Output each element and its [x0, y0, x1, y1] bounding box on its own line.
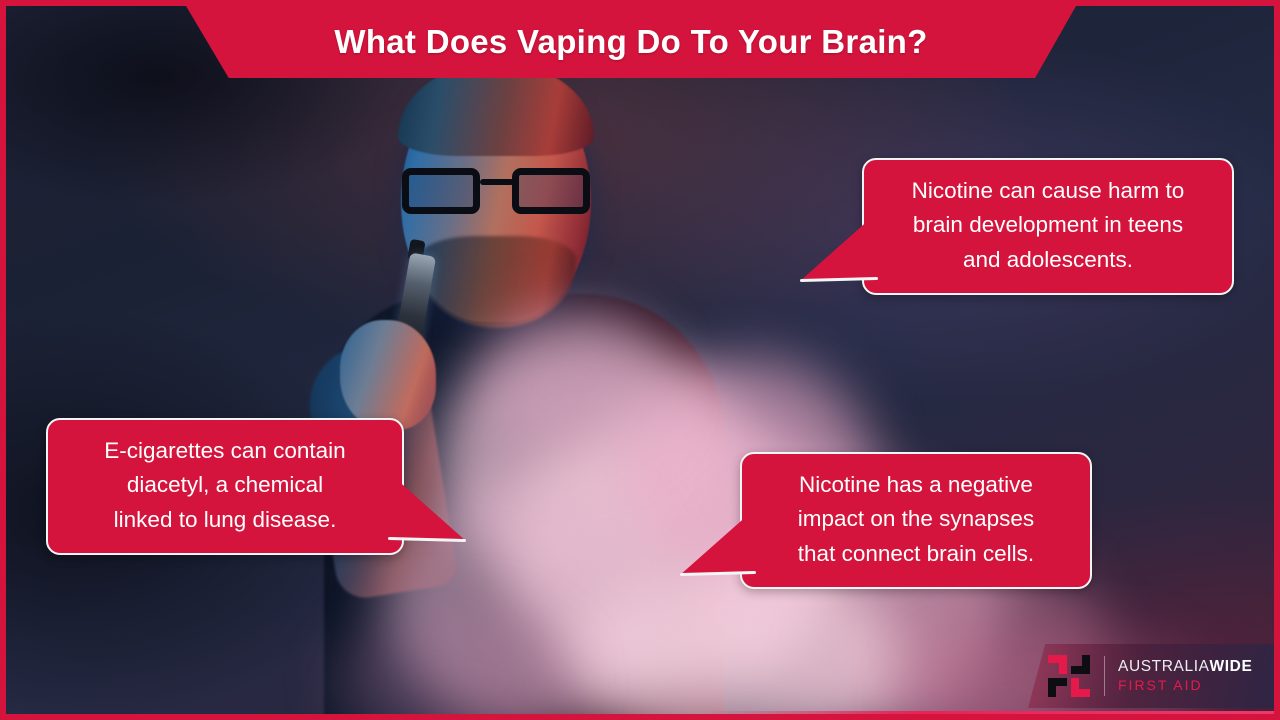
bubble-line-2: brain development in teens — [886, 208, 1210, 242]
logo-brand-part1: AUSTRALIA — [1118, 658, 1210, 675]
page-title: What Does Vaping Do To Your Brain? — [334, 23, 927, 61]
pinwheel-cross-icon — [1048, 655, 1090, 697]
vaping-person-illustration — [306, 64, 736, 714]
speech-bubble-diacetyl: E-cigarettes can contain diacetyl, a che… — [46, 418, 404, 555]
eyeglasses-icon — [402, 168, 590, 216]
background-photo — [6, 6, 1274, 714]
logo-tagline: FIRST AID — [1118, 678, 1252, 693]
logo-divider — [1104, 656, 1105, 696]
speech-bubble-nicotine-brain: Nicotine can cause harm to brain develop… — [862, 158, 1234, 295]
brand-logo[interactable]: AUSTRALIAWIDE FIRST AID — [1028, 644, 1274, 708]
glasses-left-lens — [402, 168, 480, 214]
logo-wordmark: AUSTRALIAWIDE FIRST AID — [1118, 659, 1252, 693]
bubble-line-2: diacetyl, a chemical — [70, 468, 380, 502]
person-hand — [340, 320, 436, 430]
glasses-bridge — [480, 179, 514, 185]
bubble-line-1: E-cigarettes can contain — [70, 434, 380, 468]
speech-bubble-synapses: Nicotine has a negative impact on the sy… — [740, 452, 1092, 589]
bubble-line-2: impact on the synapses — [764, 502, 1068, 536]
bubble-line-1: Nicotine has a negative — [764, 468, 1068, 502]
bottom-accent-rule — [6, 711, 1274, 714]
header-banner: What Does Vaping Do To Your Brain? — [186, 6, 1076, 78]
logo-brand-part2: WIDE — [1210, 658, 1253, 675]
infographic-canvas: What Does Vaping Do To Your Brain? Nicot… — [0, 0, 1280, 720]
glasses-right-lens — [512, 168, 590, 214]
bubble-line-3: that connect brain cells. — [764, 537, 1068, 571]
bubble-line-3: linked to lung disease. — [70, 503, 380, 537]
bubble-line-1: Nicotine can cause harm to — [886, 174, 1210, 208]
bubble-line-3: and adolescents. — [886, 243, 1210, 277]
